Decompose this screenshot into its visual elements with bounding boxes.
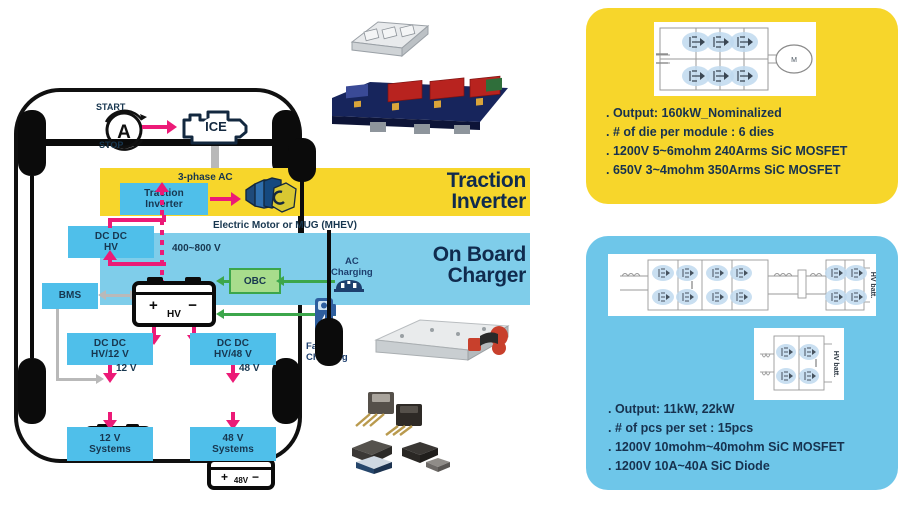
hv-battery-terminal-right xyxy=(185,277,201,285)
obc-schematic-secondary: HV batt. xyxy=(754,328,844,400)
traction-circuit-motor-label: M xyxy=(791,57,797,64)
obc-title-line2: Charger xyxy=(376,265,526,286)
sys48-line2: Systems xyxy=(212,444,254,455)
hv-battery-terminal-left xyxy=(147,277,163,285)
photo-inverter-pcb xyxy=(330,70,510,136)
traction-inverter-band-title: Traction Inverter xyxy=(392,170,526,213)
arrow-inverter-to-motor-head xyxy=(231,192,241,206)
obc-schematic-main: HV batt. xyxy=(608,254,876,316)
traction-spec-0: . Output: 160kW_Nominalized xyxy=(606,104,847,123)
photo-smd-packages xyxy=(348,436,454,476)
hv-battery-toprule xyxy=(136,292,212,295)
dcdc48-line1: DC DC xyxy=(214,338,252,349)
svg-text:ICE: ICE xyxy=(205,119,227,134)
motor-rotor-glyph xyxy=(288,138,316,182)
three-phase-ac-label: 3-phase AC xyxy=(178,172,233,183)
hv-voltage-label: 400~800 V xyxy=(172,243,221,254)
photo-discrete-packages xyxy=(350,390,446,436)
battery-48v-toprule xyxy=(211,467,271,470)
traction-spec-1: . # of die per module : 6 dies xyxy=(606,123,847,142)
wheel-front-left xyxy=(18,110,46,176)
traction-title-line1: Traction xyxy=(392,170,526,191)
electric-motor-label: Electric Motor or MUG (MHEV) xyxy=(213,220,357,231)
link-dcdc-to-inverter-h xyxy=(108,218,166,222)
dcdc-hv-48v-box[interactable]: DC DC HV/48 V xyxy=(190,333,276,365)
dcdc-hv-line1: DC DC xyxy=(95,231,127,242)
sys12-line1: 12 V xyxy=(89,433,131,444)
charging-post-base xyxy=(315,318,343,366)
obc-spec-list: . Output: 11kW, 22kW . # of pcs per set … xyxy=(608,400,845,476)
ac-charge-head-2 xyxy=(276,276,284,286)
obc-spec-1: . # of pcs per set : 15pcs xyxy=(608,419,845,438)
start-label: START xyxy=(96,102,125,112)
hv-bus-dotted xyxy=(160,190,164,286)
charging-post xyxy=(327,230,331,322)
label-12v-arrow: 12 V xyxy=(116,363,137,374)
obc-info-panel: HV batt. xyxy=(586,236,898,490)
arrow-inverter-to-motor xyxy=(210,197,232,201)
fast-dc-head xyxy=(216,309,224,319)
dcdc12-line1: DC DC xyxy=(91,338,129,349)
left-shaft xyxy=(30,176,34,358)
ac-charging-line1: AC xyxy=(331,256,373,267)
traction-spec-2: . 1200V 5~6mohm 240Arms SiC MOSFET xyxy=(606,142,847,161)
ac-charge-head-1 xyxy=(216,276,224,286)
dcdc-hv-12v-box[interactable]: DC DC HV/12 V xyxy=(67,333,153,365)
traction-inverter-schematic: M xyxy=(654,22,816,96)
obc-circuit-hv-batt-label: HV batt. xyxy=(869,272,876,299)
obc-spec-3: . 1200V 10A~40A SiC Diode xyxy=(608,457,845,476)
hv-battery-label: HV xyxy=(136,309,212,320)
dcdc48-line2: HV/48 V xyxy=(214,349,252,360)
obc-circuit-hv-batt-label-2: HV batt. xyxy=(832,351,839,378)
dcdc12-line2: HV/12 V xyxy=(91,349,129,360)
systems-48v-box[interactable]: 48 V Systems xyxy=(190,427,276,461)
arrow-dcdc12-to-batt-head xyxy=(103,373,117,383)
ice-engine-icon: ICE xyxy=(178,104,250,148)
photo-obc-enclosure xyxy=(372,310,516,372)
traction-spec-list: . Output: 160kW_Nominalized . # of die p… xyxy=(606,104,847,180)
systems-12v-box[interactable]: 12 V Systems xyxy=(67,427,153,461)
obc-box[interactable]: OBC xyxy=(229,268,281,294)
traction-inverter-info-panel: M . Output: 160kW_Nominalized . # of die… xyxy=(586,8,898,204)
sys12-line2: Systems xyxy=(89,444,131,455)
arrow-dcdc48-to-batt-head xyxy=(226,373,240,383)
hv-battery: + − HV xyxy=(132,281,216,327)
hv-bus-arrowhead xyxy=(155,182,169,192)
bms-box[interactable]: BMS xyxy=(42,283,98,309)
label-48v-arrow: 48 V xyxy=(239,363,260,374)
ac-charging-label: AC Charging xyxy=(331,256,373,278)
wheel-rear-left xyxy=(18,358,46,424)
obc-spec-0: . Output: 11kW, 22kW xyxy=(608,400,845,419)
photo-power-module-gray xyxy=(344,14,434,62)
battery-48v-label: 48V xyxy=(211,476,271,485)
bms-down-line xyxy=(56,309,59,380)
wheel-rear-right xyxy=(272,358,300,424)
arrow-startstop-to-ice xyxy=(142,125,168,129)
bms-to-batt-line xyxy=(104,294,132,297)
link-dcdc-batt-head xyxy=(103,250,117,260)
arrow-startstop-to-ice-head xyxy=(167,120,177,134)
sys48-line1: 48 V xyxy=(212,433,254,444)
stop-label: STOP xyxy=(99,140,123,150)
bms-label: BMS xyxy=(59,290,82,301)
link-dcdc-to-batt-h xyxy=(108,262,166,266)
traction-title-line2: Inverter xyxy=(392,191,526,212)
electric-motor-icon xyxy=(242,176,298,218)
ac-plug-icon xyxy=(334,277,364,293)
battery-48v: + − 48V xyxy=(207,458,275,490)
obc-label: OBC xyxy=(244,276,266,287)
obc-title-line1: On Board xyxy=(376,244,526,265)
traction-spec-3: . 650V 3~4mohm 350Arms SiC MOSFET xyxy=(606,161,847,180)
obc-spec-2: . 1200V 10mohm~40mohm SiC MOSFET xyxy=(608,438,845,457)
batt-to-bms-head xyxy=(98,290,106,300)
vehicle-block-diagram: A START STOP ICE Traction Inverter 3-pha… xyxy=(0,0,560,505)
obc-band-title: On Board Charger xyxy=(376,244,526,287)
bms-to-12v-line xyxy=(56,378,98,381)
